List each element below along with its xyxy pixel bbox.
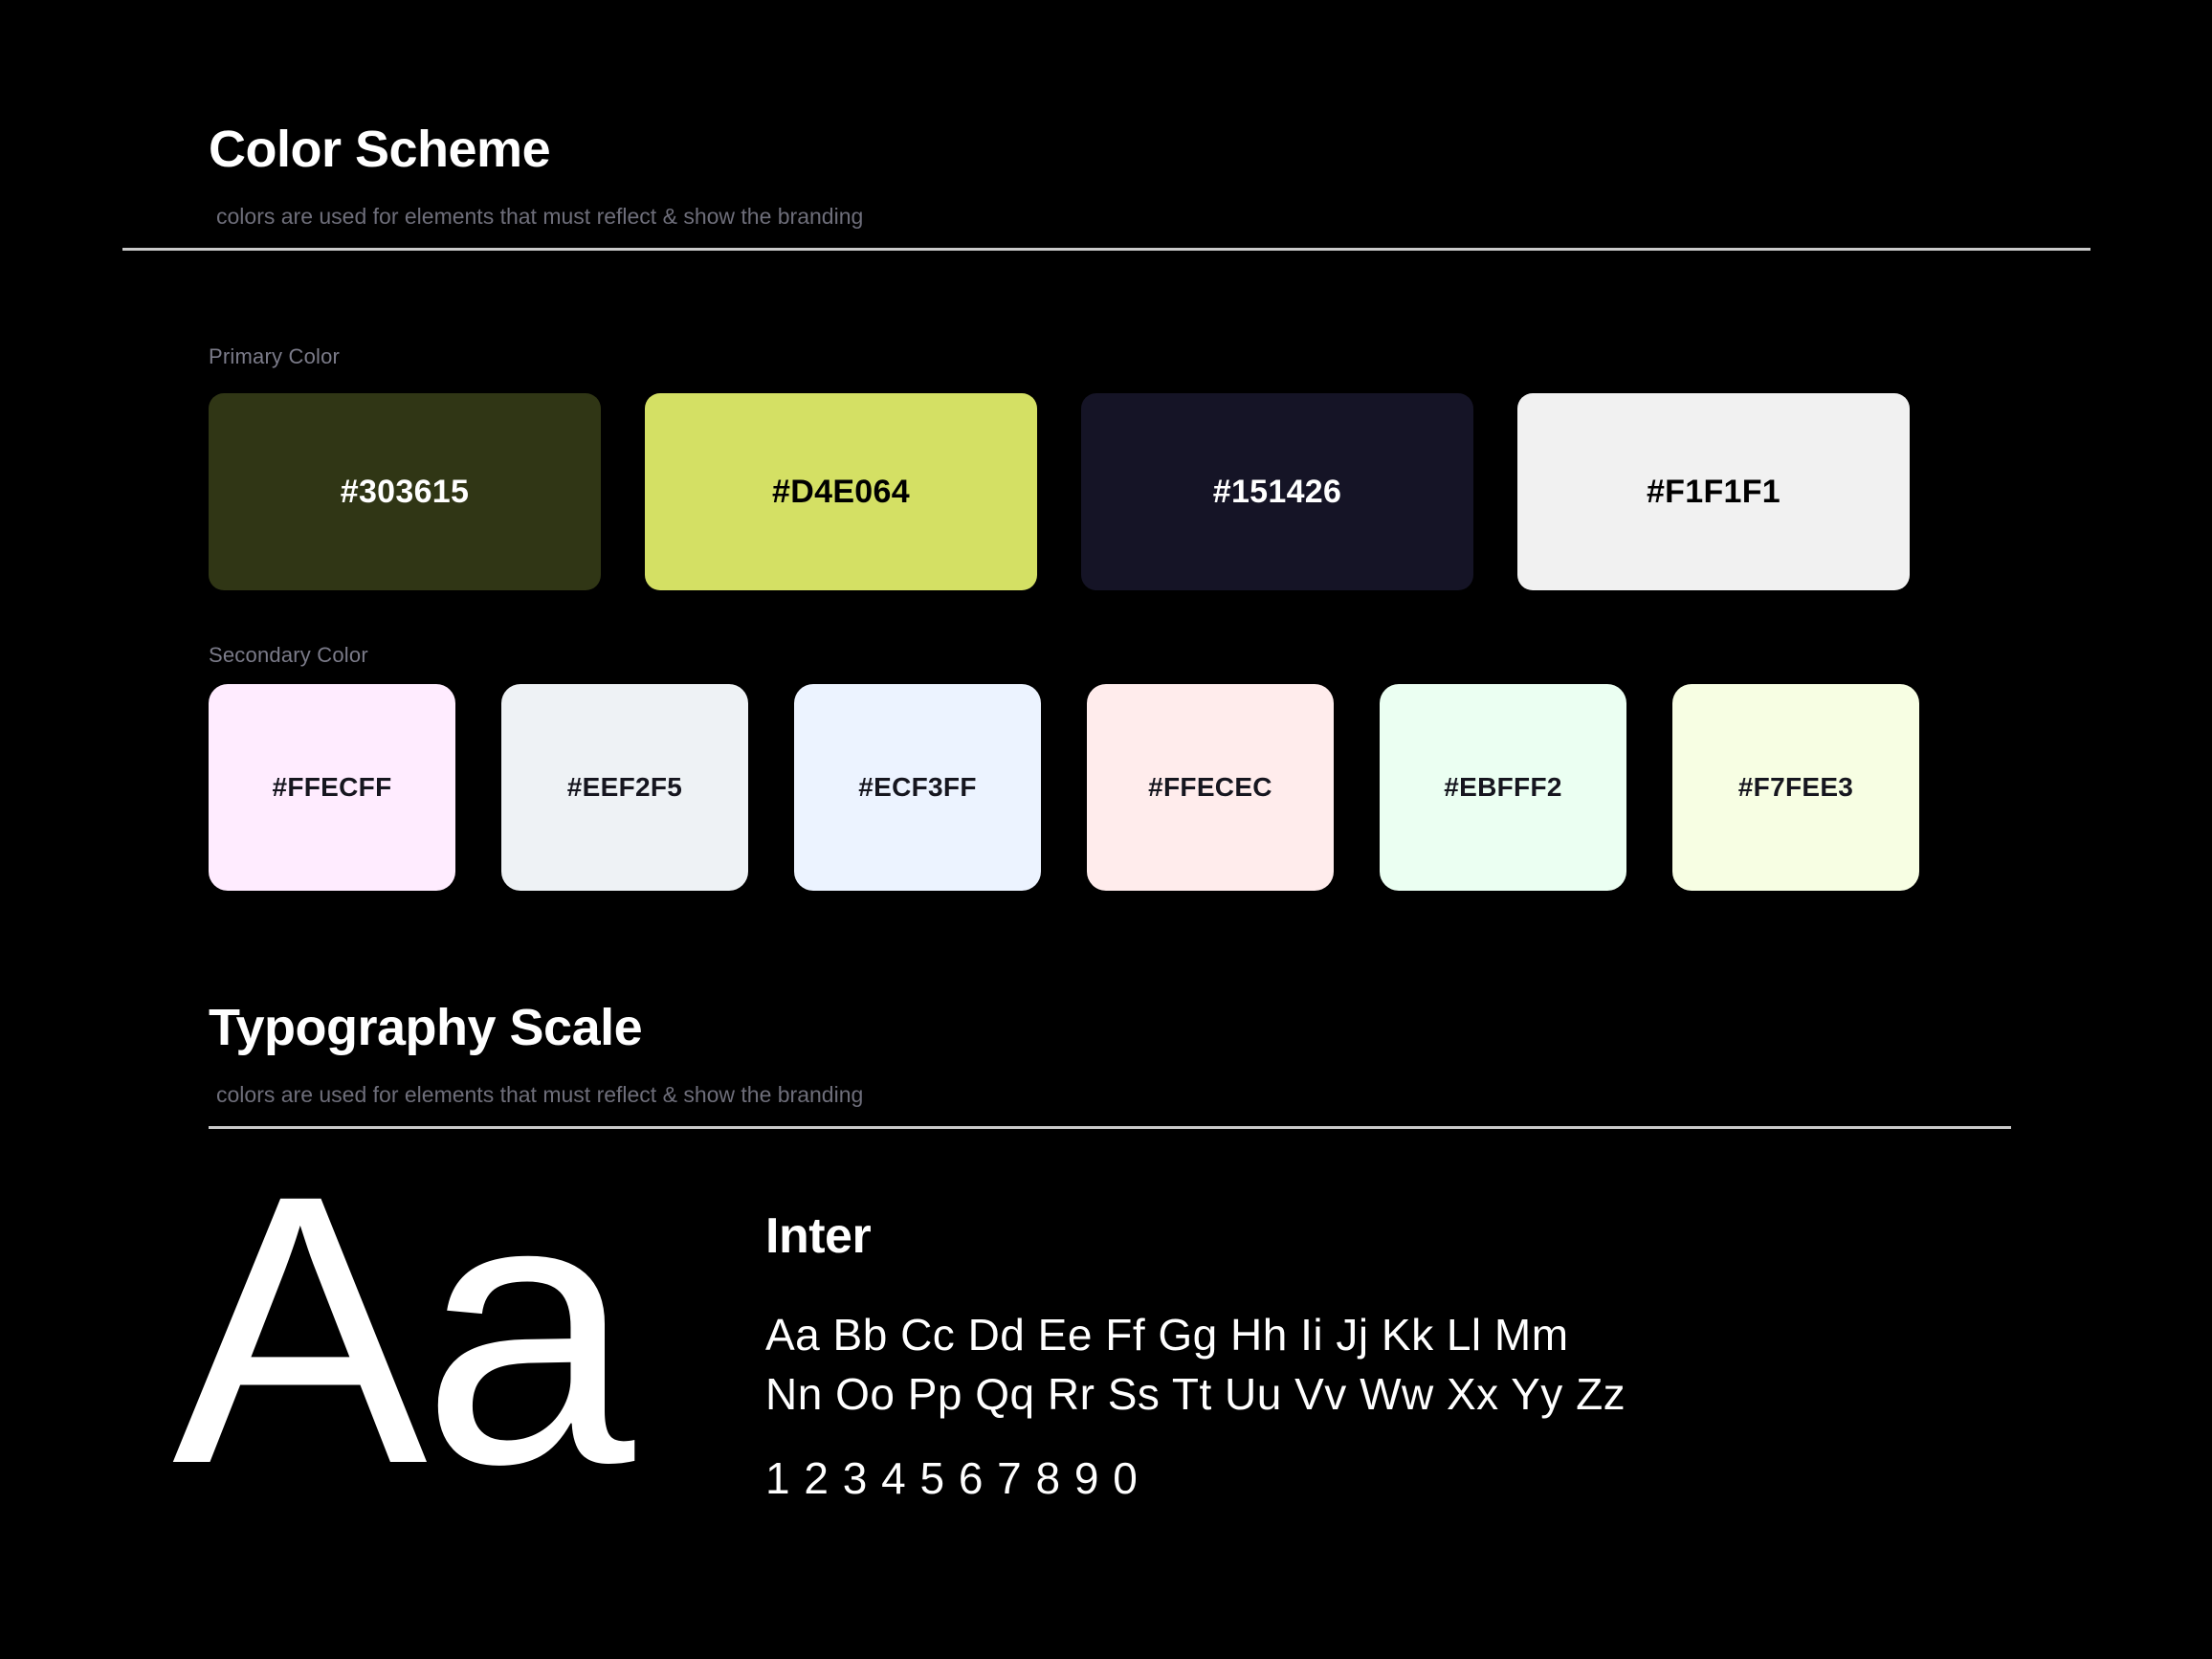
color-swatch[interactable]: #F7FEE3 xyxy=(1672,684,1919,891)
color-swatch-hex-label: #303615 xyxy=(341,474,469,511)
design-system-page: Color Scheme colors are used for element… xyxy=(0,0,2212,1659)
color-swatch-hex-label: #F1F1F1 xyxy=(1647,474,1781,511)
alphabet-row-uppercase-lowercase-n-z: Nn Oo Pp Qq Rr Ss Tt Uu Vv Ww Xx Yy Zz xyxy=(765,1368,1626,1420)
color-swatch[interactable]: #FFECEC xyxy=(1087,684,1334,891)
typography-scale-title: Typography Scale xyxy=(209,1001,2017,1055)
color-swatch-hex-label: #ECF3FF xyxy=(858,772,976,803)
color-swatch-hex-label: #EEF2F5 xyxy=(567,772,682,803)
color-swatch[interactable]: #ECF3FF xyxy=(794,684,1041,891)
color-swatch[interactable]: #303615 xyxy=(209,393,601,590)
color-swatch[interactable]: #FFECFF xyxy=(209,684,455,891)
color-scheme-subtitle: colors are used for elements that must r… xyxy=(216,204,2093,231)
secondary-color-label: Secondary Color xyxy=(209,643,368,668)
primary-color-label: Primary Color xyxy=(209,344,340,369)
alphabet-row-uppercase-lowercase-a-m: Aa Bb Cc Dd Ee Ff Gg Hh Ii Jj Kk Ll Mm xyxy=(765,1309,1569,1360)
color-scheme-divider xyxy=(122,248,2090,251)
primary-color-swatch-row: #303615 #D4E064 #151426 #F1F1F1 xyxy=(209,393,1910,590)
color-swatch[interactable]: #D4E064 xyxy=(645,393,1037,590)
typography-scale-section: Typography Scale colors are used for ele… xyxy=(209,1001,2017,1108)
numerals-row: 1 2 3 4 5 6 7 8 9 0 xyxy=(765,1452,1139,1504)
secondary-color-swatch-row: #FFECFF #EEF2F5 #ECF3FF #FFECEC #EBFFF2 … xyxy=(209,684,1919,891)
color-swatch-hex-label: #FFECEC xyxy=(1148,772,1272,803)
typography-scale-subtitle: colors are used for elements that must r… xyxy=(216,1082,2017,1109)
color-swatch[interactable]: #F1F1F1 xyxy=(1517,393,1910,590)
color-scheme-section: Color Scheme colors are used for element… xyxy=(209,122,2093,230)
color-swatch-hex-label: #D4E064 xyxy=(772,474,910,511)
color-swatch-hex-label: #F7FEE3 xyxy=(1738,772,1853,803)
color-swatch[interactable]: #151426 xyxy=(1081,393,1473,590)
color-swatch[interactable]: #EBFFF2 xyxy=(1380,684,1626,891)
typeface-specimen-aa: Aa xyxy=(172,1139,629,1521)
color-swatch-hex-label: #151426 xyxy=(1213,474,1341,511)
color-swatch-hex-label: #FFECFF xyxy=(273,772,392,803)
font-family-name: Inter xyxy=(765,1207,871,1265)
color-swatch-hex-label: #EBFFF2 xyxy=(1444,772,1561,803)
color-swatch[interactable]: #EEF2F5 xyxy=(501,684,748,891)
color-scheme-title: Color Scheme xyxy=(209,122,2093,177)
